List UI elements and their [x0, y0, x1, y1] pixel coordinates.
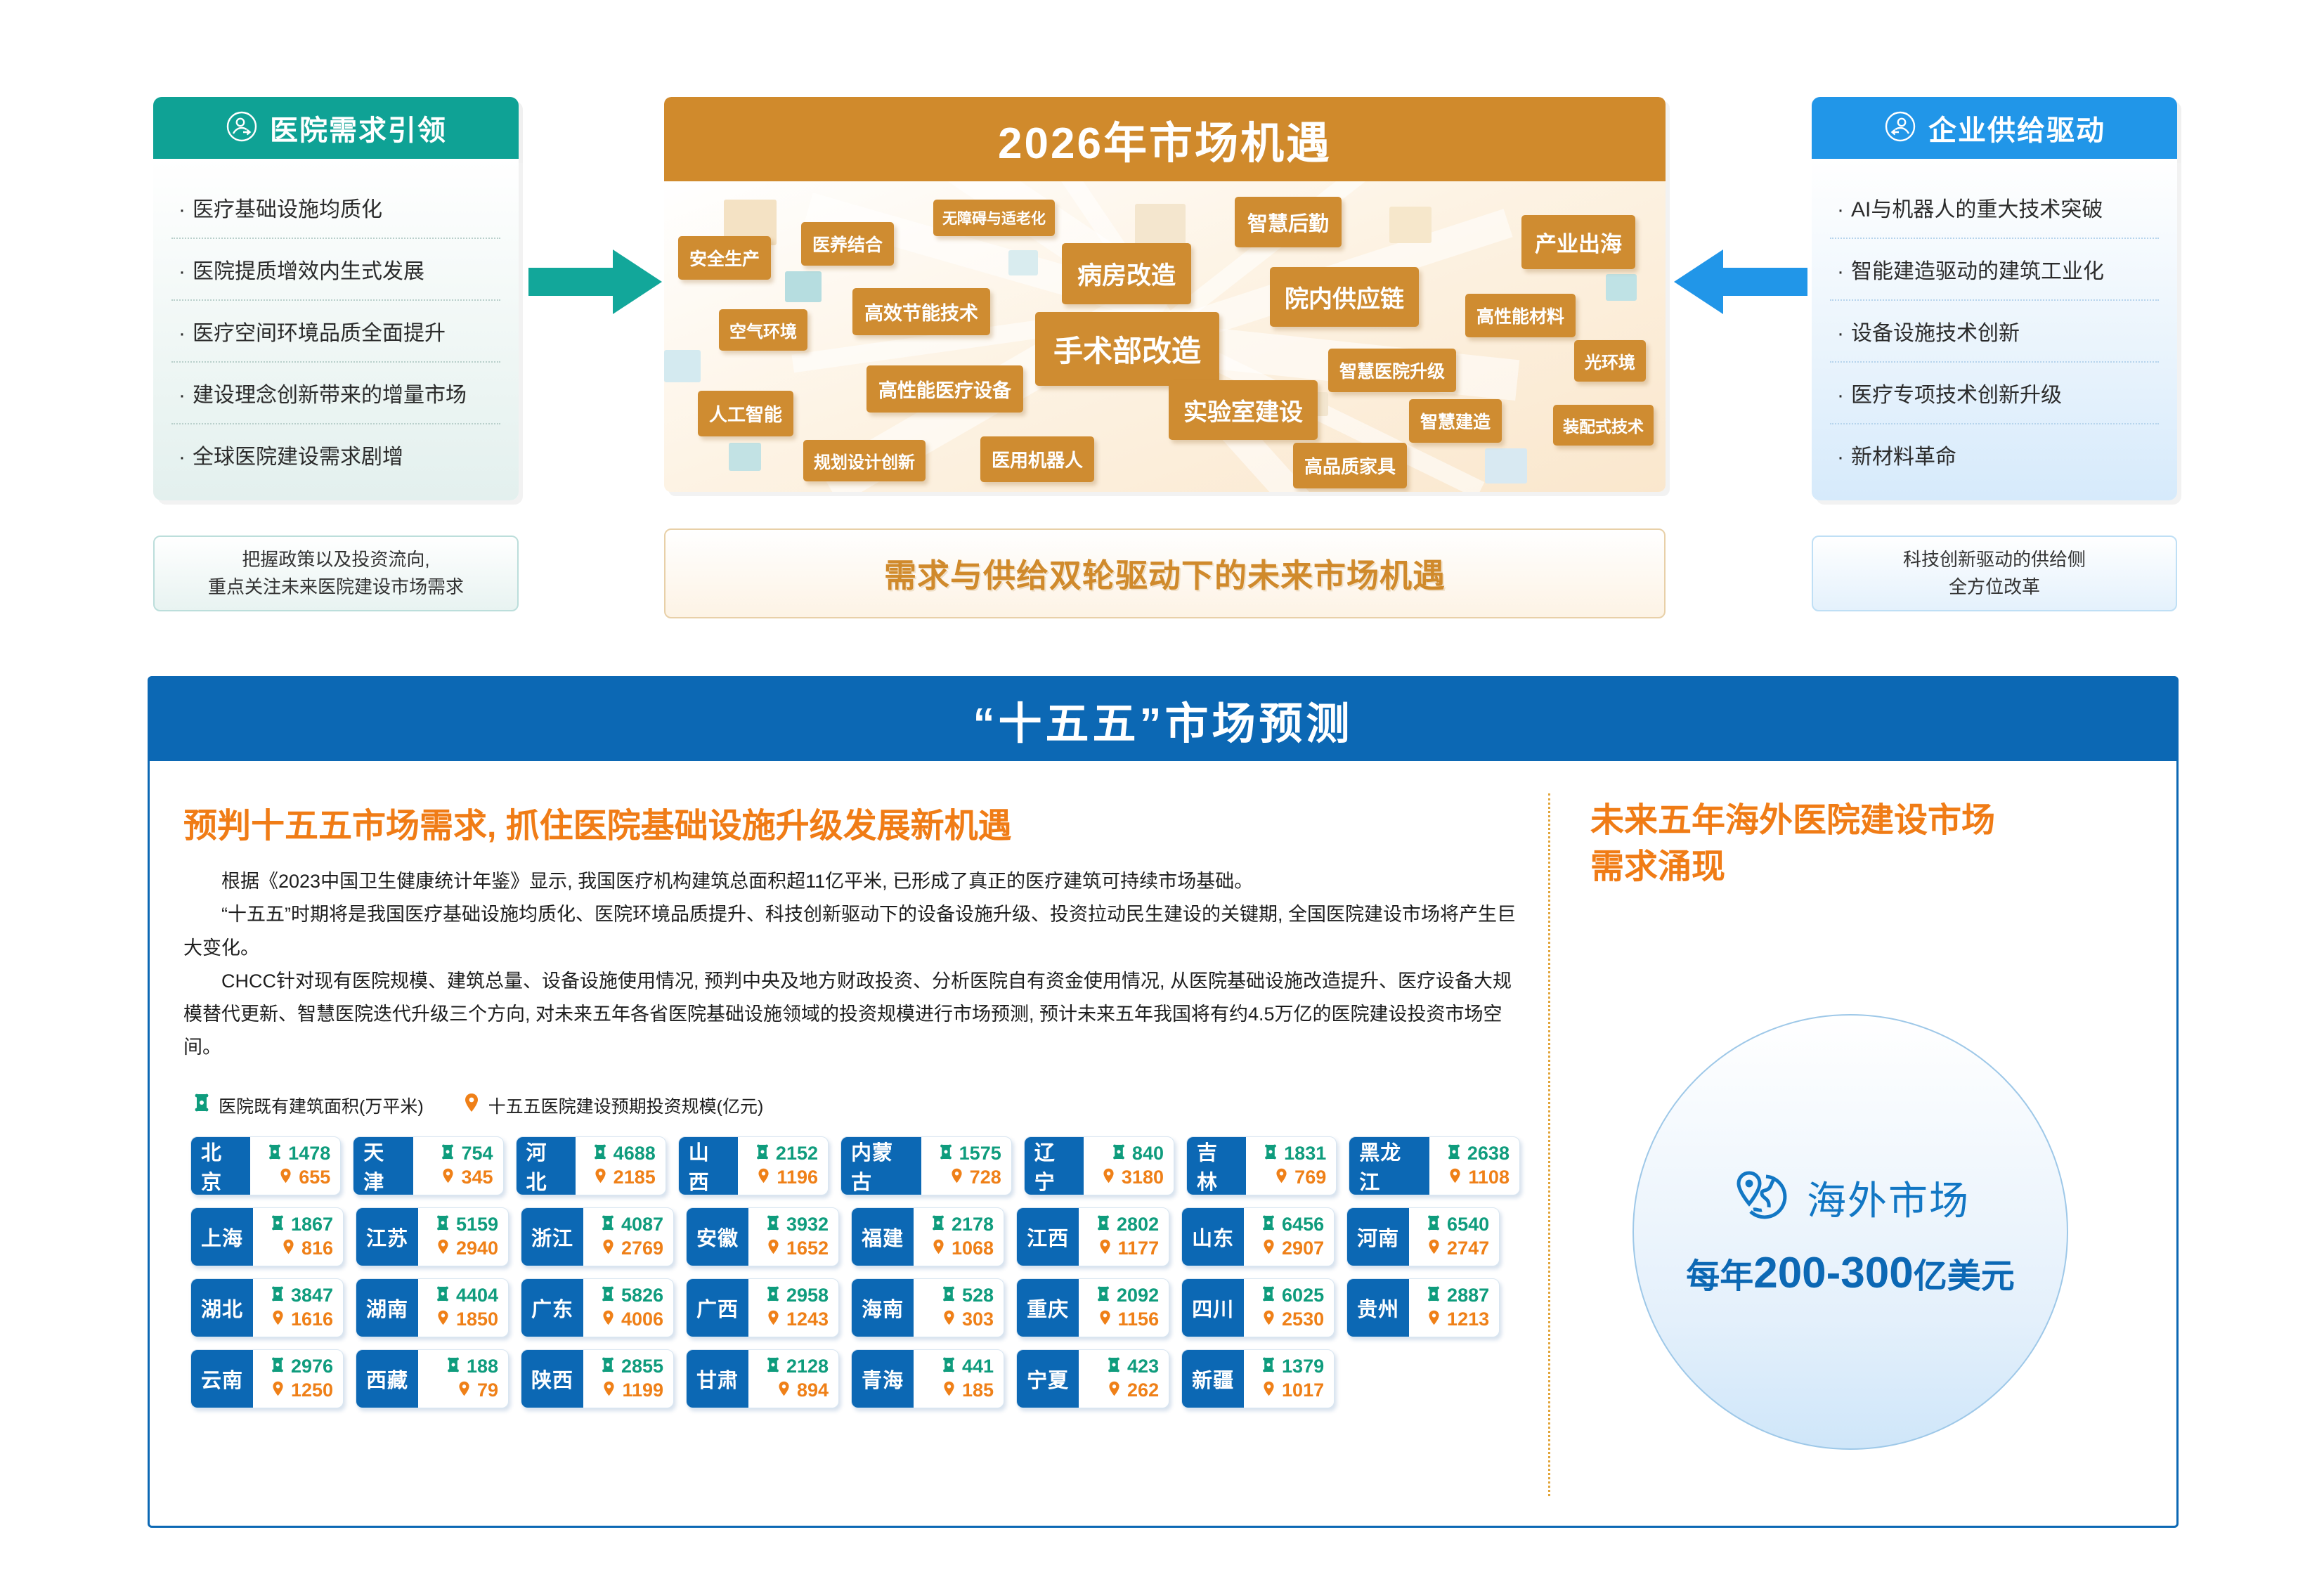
- province-area-line: 2958: [757, 1285, 829, 1306]
- province-card[interactable]: 河北46882185: [516, 1136, 666, 1195]
- area-marker-icon: [1107, 1357, 1121, 1376]
- province-area-line: 5159: [427, 1214, 498, 1235]
- province-values: 26381108: [1429, 1137, 1519, 1195]
- province-area-value: 188: [467, 1356, 498, 1377]
- province-area-value: 3932: [786, 1214, 829, 1235]
- province-card[interactable]: 重庆20921156: [1016, 1278, 1169, 1337]
- opportunity-tag[interactable]: 智慧后勤: [1235, 197, 1342, 247]
- opportunity-tag[interactable]: 空气环境: [719, 309, 807, 351]
- province-card[interactable]: 河南65402747: [1346, 1207, 1500, 1266]
- province-card[interactable]: 四川60252530: [1181, 1278, 1335, 1337]
- province-invest-value: 894: [797, 1380, 829, 1401]
- province-area-line: 754: [422, 1143, 493, 1164]
- province-area-value: 3847: [291, 1285, 333, 1306]
- supply-panel-body: ·AI与机器人的重大技术突破 ·智能建造驱动的建筑工业化 ·设备设施技术创新 ·…: [1812, 159, 2177, 500]
- province-name: 贵州: [1347, 1279, 1409, 1337]
- province-values: 64562907: [1244, 1208, 1334, 1266]
- opportunity-tag[interactable]: 规划设计创新: [803, 440, 926, 481]
- province-card[interactable]: 内蒙古1575728: [840, 1136, 1012, 1195]
- opportunity-tag[interactable]: 高效节能技术: [852, 288, 990, 335]
- province-area-line: 2128: [757, 1356, 829, 1377]
- opportunity-tag[interactable]: 智慧医院升级: [1328, 349, 1456, 392]
- province-name: 青海: [852, 1350, 914, 1408]
- province-card[interactable]: 辽宁8403180: [1024, 1136, 1174, 1195]
- province-name: 上海: [191, 1208, 253, 1266]
- supply-panel-title: 企业供给驱动: [1928, 108, 2105, 148]
- province-invest-value: 1616: [291, 1309, 333, 1330]
- infographic-page: 医院需求引领 ·医疗基础设施均质化 ·医院提质增效内生式发展 ·医疗空间环境品质…: [0, 0, 2324, 1577]
- province-card[interactable]: 安徽39321652: [686, 1207, 839, 1266]
- province-area-value: 2976: [291, 1356, 333, 1377]
- province-area-value: 528: [962, 1285, 994, 1306]
- province-name: 海南: [852, 1279, 914, 1337]
- province-invest-line: 1177: [1087, 1238, 1159, 1259]
- province-values: 28871213: [1409, 1279, 1499, 1337]
- supply-item-label: 智能建造驱动的建筑工业化: [1851, 260, 2104, 283]
- province-area-line: 188: [427, 1356, 498, 1377]
- province-name: 河南: [1347, 1208, 1409, 1266]
- province-area-value: 6540: [1447, 1214, 1489, 1235]
- province-invest-value: 1068: [952, 1238, 994, 1259]
- pin-marker-icon: [279, 1168, 292, 1187]
- province-area-line: 1831: [1254, 1143, 1326, 1164]
- area-marker-icon: [755, 1144, 770, 1163]
- supply-item-label: AI与机器人的重大技术突破: [1851, 198, 2103, 221]
- province-area-line: 528: [922, 1285, 994, 1306]
- market-opportunity-note-text: 需求与供给双轮驱动下的未来市场机遇: [884, 550, 1446, 597]
- opportunity-tag[interactable]: 高性能材料: [1465, 294, 1576, 337]
- province-values: 39321652: [748, 1208, 838, 1266]
- province-area-value: 754: [461, 1143, 493, 1164]
- province-invest-line: 1199: [592, 1380, 663, 1401]
- province-area-value: 5826: [621, 1285, 663, 1306]
- opportunity-tag[interactable]: 无障碍与适老化: [933, 200, 1055, 236]
- province-invest-line: 185: [922, 1380, 994, 1401]
- province-area-value: 2638: [1467, 1143, 1510, 1164]
- supply-item-4: ·医疗专项技术创新升级: [1830, 361, 2159, 423]
- province-area-value: 6025: [1282, 1285, 1324, 1306]
- province-card[interactable]: 新疆13791017: [1181, 1349, 1335, 1408]
- opportunity-tag[interactable]: 人工智能: [698, 391, 793, 436]
- province-area-value: 441: [962, 1356, 994, 1377]
- province-area-line: 1478: [259, 1143, 330, 1164]
- province-grid: 北京1478655天津754345河北46882185山西21521196内蒙古…: [190, 1136, 1520, 1408]
- area-marker-icon: [766, 1215, 780, 1234]
- pin-marker-icon: [1098, 1310, 1112, 1329]
- province-area-line: 1575: [930, 1143, 1001, 1164]
- province-area-value: 6456: [1282, 1214, 1324, 1235]
- province-invest-value: 79: [477, 1380, 498, 1401]
- province-name: 福建: [852, 1208, 914, 1266]
- area-marker-icon: [446, 1357, 460, 1376]
- pin-marker-icon: [1262, 1381, 1275, 1400]
- province-name: 安徽: [687, 1208, 748, 1266]
- opportunity-tag-label: 无障碍与适老化: [942, 207, 1046, 228]
- opportunity-tag-label: 高品质家具: [1304, 453, 1396, 479]
- pin-marker-icon: [271, 1381, 285, 1400]
- area-marker-icon: [931, 1215, 945, 1234]
- supply-item-2: ·智能建造驱动的建筑工业化: [1830, 238, 2159, 299]
- province-card[interactable]: 山西21521196: [678, 1136, 829, 1195]
- overseas-amount-prefix: 每年: [1686, 1258, 1753, 1295]
- market-opportunity-note: 需求与供给双轮驱动下的未来市场机遇: [664, 528, 1666, 618]
- pin-marker-icon: [767, 1239, 780, 1258]
- province-area-line: 3847: [261, 1285, 333, 1306]
- opportunity-tag[interactable]: 装配式技术: [1553, 405, 1654, 446]
- province-values: 51592940: [418, 1208, 508, 1266]
- province-invest-line: 345: [422, 1167, 493, 1188]
- province-values: 40872769: [583, 1208, 673, 1266]
- demand-item-label: 全球医院建设需求剧增: [193, 446, 403, 469]
- pin-marker-icon: [942, 1381, 956, 1400]
- province-invest-value: 1017: [1282, 1380, 1324, 1401]
- pin-marker-icon: [1427, 1310, 1441, 1329]
- chart-legend: 医院既有建筑面积(万平米) 十五五医院建设预期投资规模(亿元): [193, 1093, 1520, 1118]
- province-invest-line: 2769: [592, 1238, 663, 1259]
- overseas-amount: 每年200-300亿美元: [1686, 1248, 2015, 1298]
- province-invest-line: 3180: [1092, 1167, 1164, 1188]
- province-area-line: 6540: [1417, 1214, 1489, 1235]
- area-marker-icon: [1427, 1286, 1441, 1305]
- opportunity-tag-label: 产业出海: [1535, 226, 1622, 258]
- province-invest-value: 769: [1294, 1167, 1326, 1188]
- province-invest-value: 2185: [614, 1167, 656, 1188]
- province-invest-value: 1243: [786, 1309, 829, 1330]
- supply-item-5: ·新材料革命: [1830, 423, 2159, 485]
- area-marker-icon: [939, 1144, 953, 1163]
- province-card[interactable]: 江苏51592940: [356, 1207, 509, 1266]
- province-values: 28021177: [1079, 1208, 1169, 1266]
- province-name: 山东: [1182, 1208, 1244, 1266]
- province-invest-line: 1017: [1252, 1380, 1324, 1401]
- area-marker-icon: [1261, 1357, 1275, 1376]
- province-name: 西藏: [356, 1350, 418, 1408]
- demand-item-4: ·建设理念创新带来的增量市场: [171, 361, 500, 423]
- province-area-line: 2855: [592, 1356, 663, 1377]
- province-card[interactable]: 海南528303: [851, 1278, 1004, 1337]
- forecast-paragraph-1: 根据《2023中国卫生健康统计年鉴》显示, 我国医疗机构建筑总面积超11亿平米,…: [183, 865, 1520, 898]
- bullet-dot-icon: ·: [178, 322, 186, 345]
- province-invest-line: 2185: [584, 1167, 656, 1188]
- province-area-line: 4688: [584, 1143, 656, 1164]
- opportunity-tag-label: 智慧后勤: [1247, 207, 1329, 237]
- opportunity-tag-label: 智慧医院升级: [1339, 358, 1445, 383]
- province-card[interactable]: 宁夏423262: [1016, 1349, 1169, 1408]
- supply-panel-header: 企业供给驱动: [1812, 97, 2177, 159]
- area-marker-icon: [436, 1215, 450, 1234]
- province-area-value: 1831: [1284, 1143, 1326, 1164]
- pin-marker-icon: [594, 1168, 607, 1187]
- arrow-right-icon: [528, 249, 662, 318]
- province-card[interactable]: 湖北38471616: [190, 1278, 344, 1337]
- province-area-value: 2958: [786, 1285, 829, 1306]
- forecast-paragraph-3: CHCC针对现有医院规模、建筑总量、设备设施使用情况, 预判中央及地方财政投资、…: [183, 965, 1520, 1065]
- province-invest-value: 1156: [1118, 1309, 1160, 1330]
- province-values: 46882185: [576, 1137, 666, 1195]
- province-name: 湖北: [191, 1279, 253, 1337]
- province-area-line: 2638: [1438, 1143, 1510, 1164]
- opportunity-tag[interactable]: 智慧建造: [1409, 399, 1502, 443]
- province-card[interactable]: 黑龙江26381108: [1349, 1136, 1520, 1195]
- province-invest-line: 1243: [757, 1309, 829, 1330]
- province-area-value: 423: [1127, 1356, 1159, 1377]
- market-opportunity-header: 2026年市场机遇: [664, 97, 1666, 181]
- province-invest-value: 303: [962, 1309, 994, 1330]
- area-marker-icon: [271, 1215, 285, 1234]
- demand-item-label: 医疗基础设施均质化: [193, 198, 382, 221]
- demand-panel-header: 医院需求引领: [153, 97, 519, 159]
- province-values: 423262: [1079, 1350, 1169, 1408]
- province-values: 29581243: [748, 1279, 838, 1337]
- opportunity-tag-label: 病房改造: [1077, 256, 1176, 292]
- opportunity-tag[interactable]: 安全生产: [678, 236, 771, 280]
- province-card[interactable]: 广西29581243: [686, 1278, 839, 1337]
- pin-marker-icon: [436, 1239, 450, 1258]
- province-area-value: 2128: [786, 1356, 829, 1377]
- province-invest-line: 79: [427, 1380, 498, 1401]
- opportunity-tag[interactable]: 产业出海: [1521, 215, 1635, 269]
- overseas-globe-block: 海外市场 每年200-300亿美元: [1590, 972, 2110, 1492]
- province-card[interactable]: 江西28021177: [1016, 1207, 1169, 1266]
- province-name: 河北: [517, 1137, 576, 1195]
- province-area-line: 2802: [1087, 1214, 1159, 1235]
- province-area-value: 5159: [456, 1214, 498, 1235]
- province-card[interactable]: 甘肃2128894: [686, 1349, 839, 1408]
- opportunity-tag[interactable]: 院内供应链: [1270, 267, 1419, 327]
- province-invest-line: 2907: [1252, 1238, 1324, 1259]
- province-invest-value: 2940: [456, 1238, 498, 1259]
- area-marker-icon: [268, 1144, 282, 1163]
- province-card[interactable]: 青海441185: [851, 1349, 1004, 1408]
- opportunity-tag[interactable]: 医养结合: [801, 222, 894, 266]
- pin-marker-icon: [777, 1381, 791, 1400]
- area-marker-icon: [601, 1286, 615, 1305]
- area-marker-icon: [1261, 1286, 1275, 1305]
- pin-marker-icon: [767, 1310, 780, 1329]
- area-marker-icon: [1427, 1215, 1441, 1234]
- province-card[interactable]: 浙江40872769: [521, 1207, 674, 1266]
- supply-panel: 企业供给驱动 ·AI与机器人的重大技术突破 ·智能建造驱动的建筑工业化 ·设备设…: [1812, 97, 2177, 500]
- province-invest-line: 1850: [427, 1309, 498, 1330]
- pin-marker-icon: [602, 1381, 616, 1400]
- province-name: 新疆: [1182, 1350, 1244, 1408]
- province-invest-value: 345: [461, 1167, 493, 1188]
- opportunity-tag-label: 规划设计创新: [814, 448, 915, 473]
- opportunity-tag[interactable]: 病房改造: [1062, 243, 1191, 304]
- province-card[interactable]: 云南29761250: [190, 1349, 344, 1408]
- user-arrow-left-icon: [1883, 110, 1917, 147]
- pin-marker-icon: [1102, 1168, 1115, 1187]
- province-card[interactable]: 福建21781068: [851, 1207, 1004, 1266]
- area-marker-icon: [1264, 1144, 1278, 1163]
- pin-marker-icon: [1275, 1168, 1288, 1187]
- arrow-left-icon: [1674, 249, 1807, 318]
- supply-item-label: 医疗专项技术创新升级: [1851, 384, 2062, 407]
- province-values: 65402747: [1409, 1208, 1499, 1266]
- province-invest-value: 1177: [1118, 1238, 1160, 1259]
- opportunity-tag[interactable]: 高品质家具: [1293, 443, 1407, 488]
- province-name: 江西: [1017, 1208, 1079, 1266]
- province-area-value: 1379: [1282, 1356, 1324, 1377]
- province-card[interactable]: 山东64562907: [1181, 1207, 1335, 1266]
- province-card[interactable]: 北京1478655: [190, 1136, 341, 1195]
- province-name: 湖南: [356, 1279, 418, 1337]
- bullet-dot-icon: ·: [178, 384, 186, 407]
- pin-marker-icon: [463, 1093, 480, 1117]
- area-marker-icon: [441, 1144, 455, 1163]
- opportunity-tag-label: 院内供应链: [1285, 280, 1404, 314]
- decor-blob: [664, 350, 701, 382]
- province-area-value: 1478: [288, 1143, 330, 1164]
- opportunity-tag-label: 实验室建设: [1183, 393, 1303, 427]
- province-area-line: 6456: [1252, 1214, 1324, 1235]
- province-area-line: 2092: [1087, 1285, 1159, 1306]
- province-invest-line: 1213: [1417, 1309, 1489, 1330]
- province-area-line: 1867: [261, 1214, 333, 1235]
- province-card[interactable]: 上海1867816: [190, 1207, 344, 1266]
- province-invest-value: 816: [301, 1238, 333, 1259]
- province-card[interactable]: 广东58264006: [521, 1278, 674, 1337]
- pin-marker-icon: [757, 1168, 770, 1187]
- demand-item-3: ·医疗空间环境品质全面提升: [171, 299, 500, 361]
- decor-blob: [1135, 204, 1186, 247]
- supply-note-line-1: 科技创新驱动的供给侧: [1903, 546, 2086, 573]
- opportunity-tag-label: 高性能材料: [1476, 303, 1564, 328]
- decor-blob: [729, 443, 761, 471]
- area-marker-icon: [593, 1144, 607, 1163]
- province-invest-value: 185: [962, 1380, 994, 1401]
- opportunity-tag[interactable]: 高性能医疗设备: [866, 365, 1023, 413]
- province-card[interactable]: 湖南44041850: [356, 1278, 509, 1337]
- province-area-value: 2887: [1447, 1285, 1489, 1306]
- pin-marker-icon: [1262, 1310, 1275, 1329]
- province-row: 云南29761250西藏18879陕西28551199甘肃2128894青海44…: [190, 1349, 1520, 1408]
- pin-marker-icon: [441, 1168, 455, 1187]
- province-name: 黑龙江: [1349, 1137, 1429, 1195]
- overseas-title-line-1: 未来五年海外医院建设市场: [1590, 798, 2176, 844]
- province-invest-line: 769: [1254, 1167, 1326, 1188]
- pin-marker-icon: [602, 1310, 615, 1329]
- province-values: 20921156: [1079, 1279, 1169, 1337]
- province-area-line: 4087: [592, 1214, 663, 1235]
- province-name: 吉林: [1187, 1137, 1246, 1195]
- province-name: 内蒙古: [841, 1137, 921, 1195]
- province-invest-line: 728: [930, 1167, 1001, 1188]
- area-marker-icon: [1447, 1144, 1461, 1163]
- pin-marker-icon: [457, 1381, 471, 1400]
- area-marker-icon: [193, 1093, 210, 1117]
- province-card[interactable]: 贵州28871213: [1346, 1278, 1500, 1337]
- province-name: 北京: [191, 1137, 250, 1195]
- province-values: 18879: [418, 1350, 508, 1408]
- province-values: 28551199: [583, 1350, 673, 1408]
- area-marker-icon: [271, 1286, 285, 1305]
- province-card[interactable]: 天津754345: [353, 1136, 503, 1195]
- overseas-amount-suffix: 亿美元: [1914, 1258, 2015, 1295]
- supply-item-label: 新材料革命: [1851, 446, 1956, 469]
- bullet-dot-icon: ·: [1837, 384, 1844, 407]
- bullet-dot-icon: ·: [1837, 198, 1844, 221]
- province-values: 2128894: [748, 1350, 838, 1408]
- overseas-circle: 海外市场 每年200-300亿美元: [1632, 1014, 2068, 1450]
- opportunity-tag[interactable]: 医用机器人: [980, 436, 1094, 482]
- province-values: 21781068: [914, 1208, 1004, 1266]
- province-name: 山西: [679, 1137, 738, 1195]
- province-area-value: 2152: [776, 1143, 818, 1164]
- province-area-line: 423: [1087, 1356, 1159, 1377]
- province-values: 8403180: [1084, 1137, 1174, 1195]
- province-name: 广西: [687, 1279, 748, 1337]
- province-values: 38471616: [253, 1279, 343, 1337]
- province-area-line: 441: [922, 1356, 994, 1377]
- decor-blob: [1485, 448, 1527, 484]
- province-invest-line: 816: [261, 1238, 333, 1259]
- supply-item-label: 设备设施技术创新: [1851, 322, 2020, 345]
- province-row: 北京1478655天津754345河北46882185山西21521196内蒙古…: [190, 1136, 1520, 1195]
- province-area-value: 4688: [614, 1143, 656, 1164]
- supply-item-3: ·设备设施技术创新: [1830, 299, 2159, 361]
- province-invest-value: 1108: [1468, 1167, 1510, 1188]
- province-card[interactable]: 西藏18879: [356, 1349, 509, 1408]
- legend-label-invest: 十五五医院建设预期投资规模(亿元): [488, 1093, 764, 1118]
- forecast-paragraph-2: “十五五”时期将是我国医疗基础设施均质化、医院环境品质提升、科技创新驱动下的设备…: [183, 898, 1520, 965]
- overseas-market-label: 海外市场: [1807, 1169, 1970, 1226]
- demand-panel-title: 医院需求引领: [270, 108, 447, 148]
- demand-item-label: 建设理念创新带来的增量市场: [193, 384, 467, 407]
- opportunity-tag[interactable]: 手术部改造: [1035, 312, 1219, 386]
- area-marker-icon: [1261, 1215, 1275, 1234]
- opportunity-tag-label: 安全生产: [689, 245, 760, 271]
- forecast-banner: “十五五”市场预测: [150, 678, 2176, 761]
- province-invest-line: 1156: [1087, 1309, 1159, 1330]
- pin-marker-icon: [932, 1239, 945, 1258]
- province-invest-value: 655: [299, 1167, 330, 1188]
- province-card[interactable]: 吉林1831769: [1186, 1136, 1337, 1195]
- demand-panel: 医院需求引领 ·医疗基础设施均质化 ·医院提质增效内生式发展 ·医疗空间环境品质…: [153, 97, 519, 500]
- province-invest-line: 262: [1087, 1380, 1159, 1401]
- province-values: 754345: [413, 1137, 503, 1195]
- province-area-value: 2802: [1117, 1214, 1159, 1235]
- province-name: 四川: [1182, 1279, 1244, 1337]
- area-marker-icon: [942, 1357, 956, 1376]
- opportunity-tag[interactable]: 光环境: [1574, 340, 1646, 382]
- province-card[interactable]: 陕西28551199: [521, 1349, 674, 1408]
- province-values: 441185: [914, 1350, 1004, 1408]
- opportunity-tag[interactable]: 实验室建设: [1169, 380, 1318, 440]
- area-marker-icon: [1096, 1215, 1110, 1234]
- market-opportunity-card: 2026年市场机遇 安全生产医养结合无障碍与适老化智慧后勤产业出海病房改造院内供…: [664, 97, 1666, 492]
- province-values: 1575728: [921, 1137, 1011, 1195]
- province-area-line: 2887: [1417, 1285, 1489, 1306]
- province-area-value: 2855: [621, 1356, 663, 1377]
- forecast-section-title: 预判十五五市场需求, 抓住医院基础设施升级发展新机遇: [183, 798, 1520, 847]
- legend-label-area: 医院既有建筑面积(万平米): [219, 1093, 424, 1118]
- decor-blob: [1008, 250, 1038, 275]
- province-invest-value: 2747: [1447, 1238, 1489, 1259]
- overseas-amount-value: 200-300: [1753, 1249, 1914, 1297]
- province-invest-line: 1250: [261, 1380, 333, 1401]
- province-values: 58264006: [583, 1279, 673, 1337]
- supply-note-line-2: 全方位改革: [1949, 573, 2040, 601]
- province-area-line: 3932: [757, 1214, 829, 1235]
- province-invest-line: 2530: [1252, 1309, 1324, 1330]
- opportunity-tag-label: 装配式技术: [1563, 413, 1644, 437]
- province-area-line: 2976: [261, 1356, 333, 1377]
- province-invest-value: 3180: [1122, 1167, 1164, 1188]
- province-name: 天津: [353, 1137, 413, 1195]
- province-values: 44041850: [418, 1279, 508, 1337]
- province-area-line: 6025: [1252, 1285, 1324, 1306]
